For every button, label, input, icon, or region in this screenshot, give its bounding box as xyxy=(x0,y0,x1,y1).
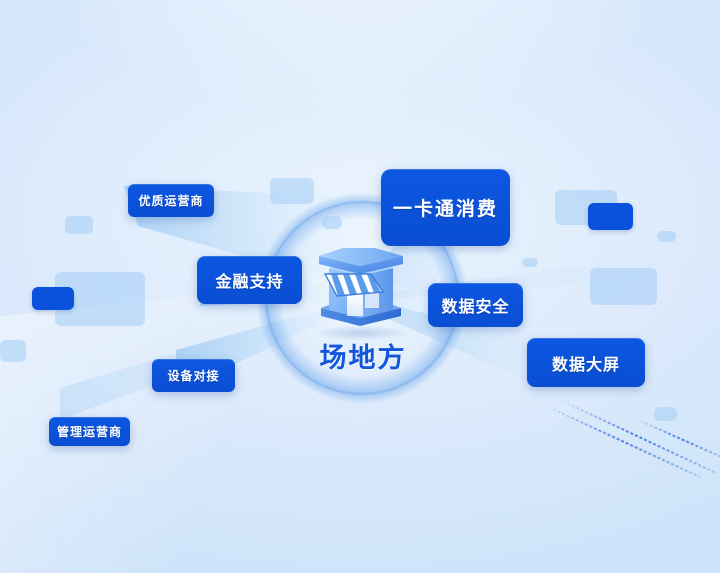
decor-rect-8 xyxy=(657,231,676,242)
decor-rect-4 xyxy=(32,287,74,310)
badge-management-operator[interactable]: 管理运营商 xyxy=(49,417,130,446)
badge-finance[interactable]: 金融支持 xyxy=(197,256,302,304)
decor-rect-1 xyxy=(322,216,342,229)
decor-rect-9 xyxy=(522,258,538,267)
decor-rect-11 xyxy=(654,407,677,421)
badge-label: 数据大屏 xyxy=(552,351,620,375)
storefront-icon xyxy=(303,238,417,338)
background-glow-top xyxy=(0,0,720,195)
badge-bigscreen[interactable]: 数据大屏 xyxy=(527,338,645,387)
badge-device-integration[interactable]: 设备对接 xyxy=(152,359,235,392)
decor-rect-2 xyxy=(65,216,93,234)
decor-rect-0 xyxy=(270,178,314,204)
badge-label: 管理运营商 xyxy=(57,423,122,440)
decor-rect-6 xyxy=(555,190,617,225)
diagonal-accent-lines xyxy=(540,373,720,483)
badge-label: 数据安全 xyxy=(441,293,509,317)
badge-label: 优质运营商 xyxy=(138,192,203,209)
badge-label: 一卡通消费 xyxy=(393,194,498,221)
badge-label: 金融支持 xyxy=(215,268,283,292)
badge-data-security[interactable]: 数据安全 xyxy=(428,283,523,327)
infographic-canvas: 场地方 一卡通消费 金融支持 数据大屏 数据安全 优质运营商 设备对接 管理运营… xyxy=(0,0,720,573)
background-glow-bottom xyxy=(0,435,720,573)
decor-rect-7 xyxy=(588,203,633,230)
decor-rect-10 xyxy=(590,268,657,305)
decor-rect-3 xyxy=(55,272,145,326)
badge-quality-operator[interactable]: 优质运营商 xyxy=(128,184,214,217)
badge-label: 设备对接 xyxy=(167,367,219,384)
badge-card-consume[interactable]: 一卡通消费 xyxy=(381,169,510,246)
